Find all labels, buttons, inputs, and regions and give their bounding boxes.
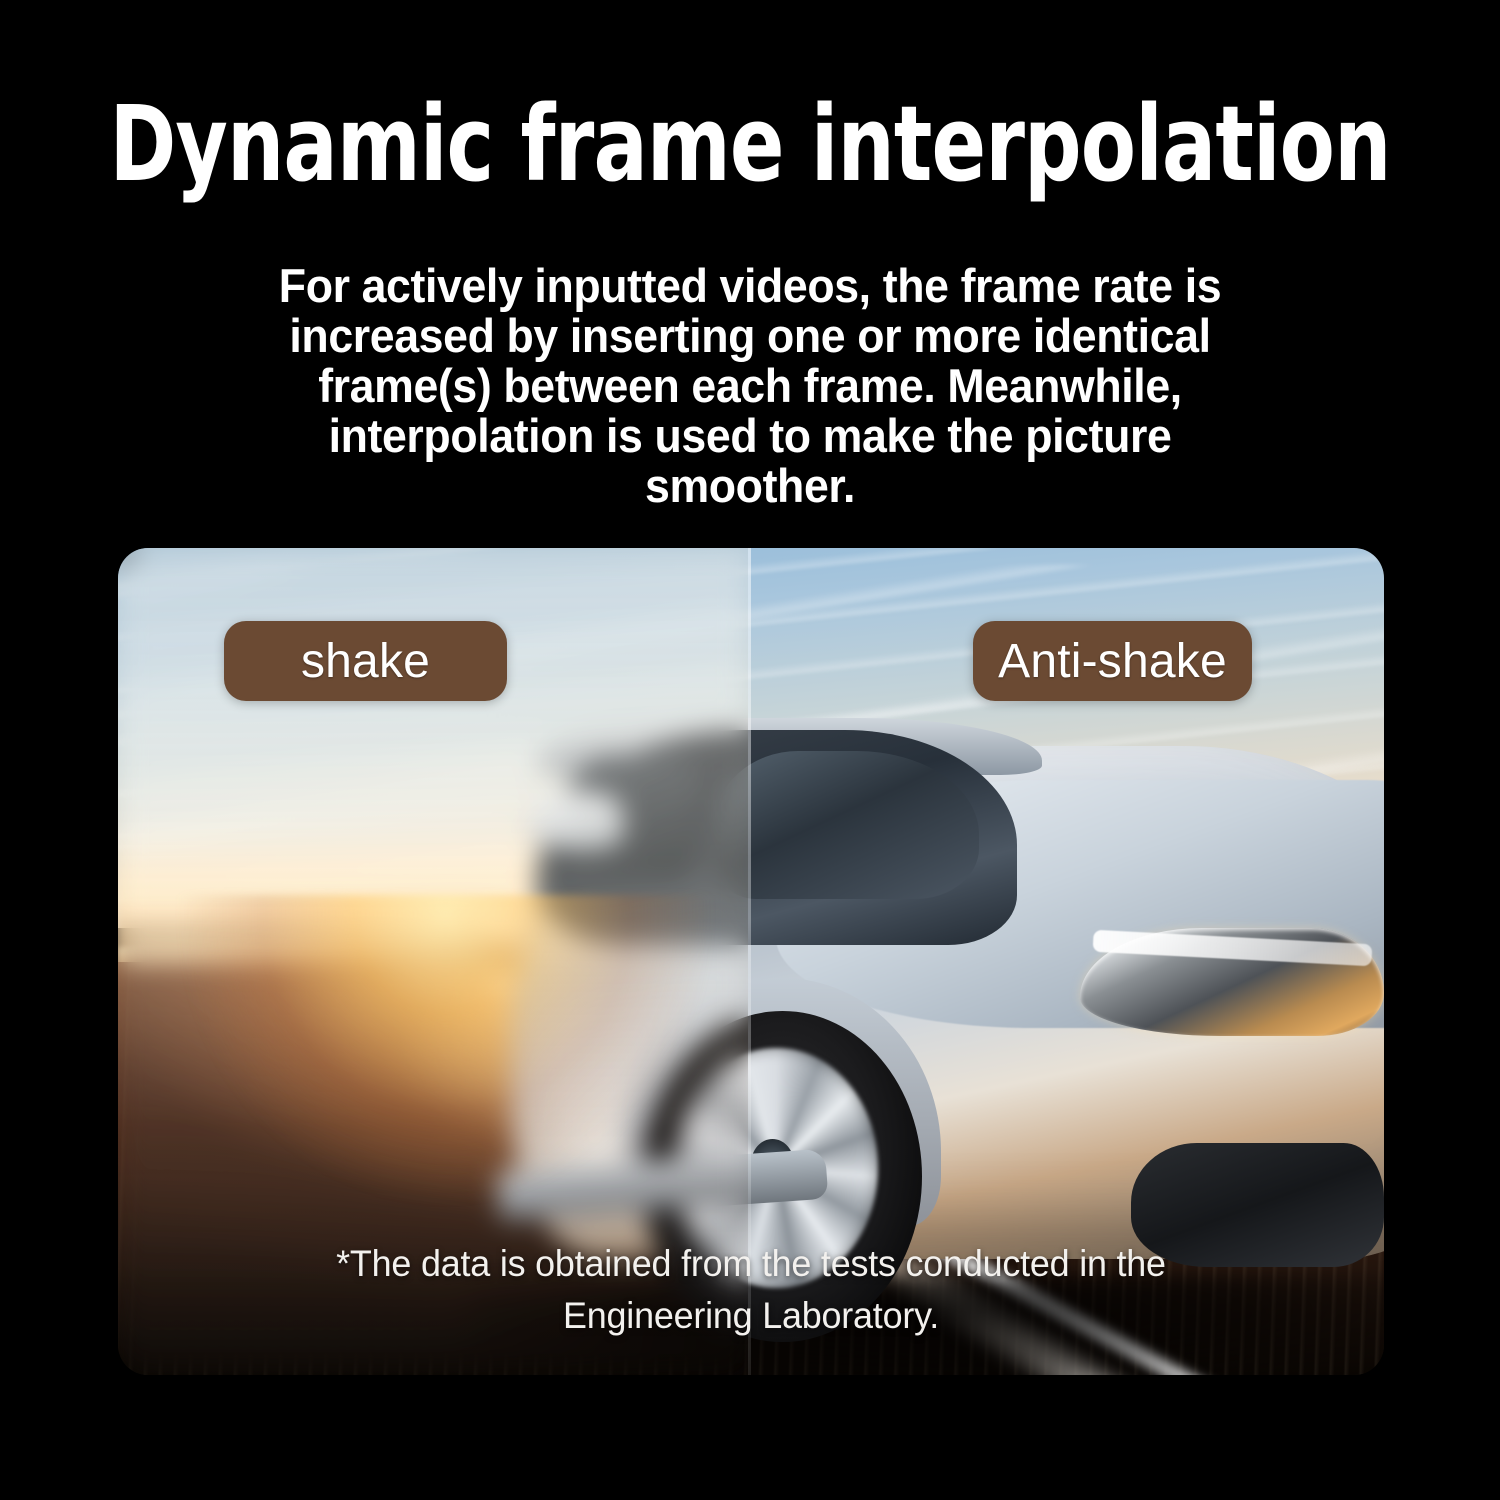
badge-anti-shake-label: Anti-shake [998, 634, 1227, 689]
comparison-panel: shake Anti-shake *The data is obtained f… [118, 548, 1384, 1375]
page-subtitle: For actively inputted videos, the frame … [275, 261, 1225, 511]
badge-shake[interactable]: shake [224, 621, 507, 701]
badge-shake-label: shake [301, 634, 430, 689]
badge-anti-shake[interactable]: Anti-shake [973, 621, 1252, 701]
page-title: Dynamic frame interpolation [105, 92, 1395, 196]
promo-page: Dynamic frame interpolation For actively… [0, 0, 1500, 1500]
car-windshield [713, 751, 979, 900]
footnote-text: *The data is obtained from the tests con… [282, 1238, 1219, 1342]
